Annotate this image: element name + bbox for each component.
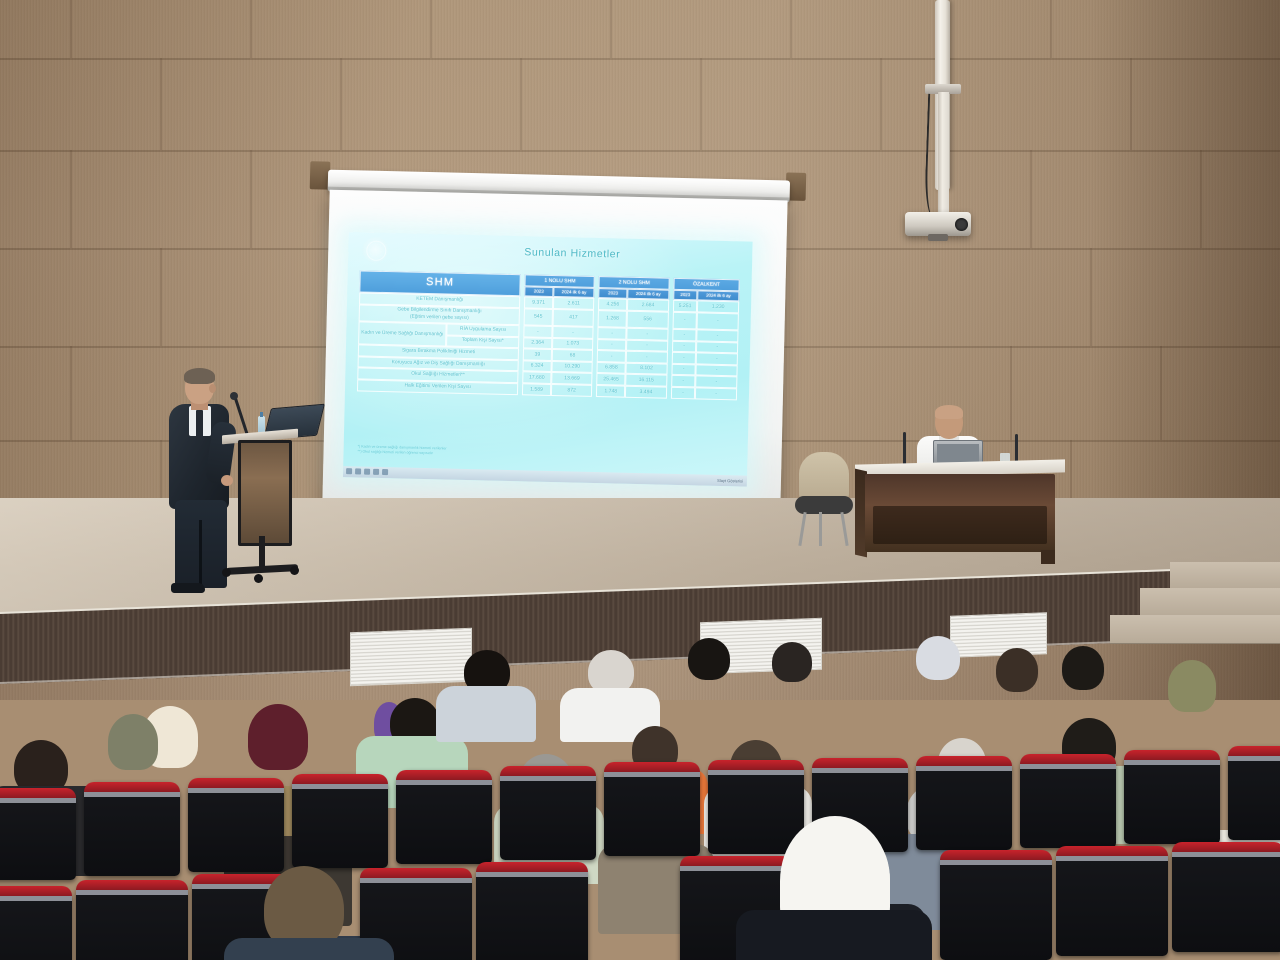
stage-step: [1140, 588, 1280, 615]
auditorium-scene: Sunulan Hizmetler SHM 1 NOLU SHM 2 NOLU …: [0, 0, 1280, 960]
audience-chair[interactable]: [292, 774, 388, 868]
cell-7-1: 872: [551, 384, 593, 397]
windows-start-icon[interactable]: [346, 468, 352, 474]
projector-lens-icon: [955, 218, 968, 231]
audience-chair[interactable]: [604, 762, 700, 856]
audience-chair[interactable]: [1228, 746, 1280, 840]
audience-chair[interactable]: [476, 862, 588, 960]
cell-3-2: -: [597, 339, 626, 351]
cell-1-1: 417: [552, 309, 594, 327]
audience-head: [996, 648, 1038, 692]
cell-7-0: 1.589: [522, 383, 551, 395]
side-chair-back: [799, 452, 849, 500]
lectern-caster: [254, 574, 263, 583]
audience-chair[interactable]: [916, 756, 1012, 850]
panel-laptop-screen: [937, 444, 979, 462]
panel-table-leg: [1041, 550, 1055, 564]
cell-3-4: -: [672, 341, 697, 353]
audience-head-scarf: [1168, 660, 1216, 712]
cell-1-4: -: [672, 312, 697, 330]
audience-chair[interactable]: [940, 850, 1052, 960]
cell-3-5: -: [696, 341, 738, 354]
audience-chair[interactable]: [0, 886, 72, 960]
cell-2-0: -: [523, 326, 552, 338]
cell-6-1: 13.669: [551, 372, 593, 385]
cell-0-4: 5.251: [673, 300, 698, 312]
audience-chair[interactable]: [1172, 842, 1280, 952]
cell-3-0: 2.364: [523, 337, 552, 349]
audience-chair[interactable]: [1056, 846, 1168, 956]
cell-6-3: 16.115: [625, 374, 667, 387]
audience-chair[interactable]: [500, 766, 596, 860]
cell-0-3: 2.684: [627, 299, 669, 312]
projection-screen: Sunulan Hizmetler SHM 1 NOLU SHM 2 NOLU …: [314, 170, 792, 531]
cell-3-3: -: [626, 339, 668, 352]
lectern-caster: [222, 568, 231, 577]
cell-2-1: -: [552, 326, 594, 339]
panel-table-front: [865, 474, 1055, 552]
powerpoint-icon[interactable]: [373, 469, 379, 475]
side-chair-leg: [840, 512, 848, 546]
audience-chair[interactable]: [0, 788, 76, 880]
slide-footnotes: *) Kadın ve üreme sağlığı danışmanlık hi…: [357, 444, 446, 457]
audience-head: [688, 638, 730, 680]
cell-4-4: -: [671, 352, 696, 364]
cell-6-2: 25.465: [597, 373, 626, 385]
cell-2-3: -: [626, 328, 668, 341]
subcol-1-2023: 2023: [524, 286, 553, 297]
audience-chair[interactable]: [708, 760, 804, 854]
cell-4-5: -: [696, 353, 738, 366]
cell-7-5: -: [695, 387, 737, 400]
audience-body-foreground: [224, 938, 394, 960]
cell-7-2: 1.748: [596, 385, 625, 397]
audience-chair[interactable]: [396, 770, 492, 864]
cell-4-0: 39: [523, 349, 552, 361]
stage-step: [1170, 562, 1280, 588]
projector-mount-foot: [928, 234, 948, 241]
lectern-caster: [290, 566, 299, 575]
presenter-shoe: [171, 583, 205, 593]
subcol-2-2023: 2023: [599, 288, 628, 299]
cell-1-3: 556: [627, 311, 669, 329]
panelist-hair: [935, 405, 963, 419]
panel-microphone-left: [903, 432, 906, 466]
browser-icon[interactable]: [364, 469, 370, 475]
cell-6-0: 17.680: [522, 372, 551, 384]
cell-4-3: -: [626, 351, 668, 364]
cell-7-4: -: [671, 387, 696, 399]
mail-icon[interactable]: [382, 469, 388, 475]
audience-chair[interactable]: [188, 778, 284, 872]
cell-1-0: 545: [524, 308, 553, 326]
cell-1-2: 1.268: [598, 310, 627, 328]
audience-body-foreground-dark: [736, 910, 932, 960]
services-table: SHM 1 NOLU SHM 2 NOLU SHM ÖZALKENT 2023 …: [357, 270, 740, 399]
cell-6-5: -: [695, 376, 737, 389]
projected-slide: Sunulan Hizmetler SHM 1 NOLU SHM 2 NOLU …: [343, 232, 753, 486]
cell-5-2: 6.858: [597, 362, 626, 374]
audience-chair[interactable]: [84, 782, 180, 876]
cell-5-3: 8.102: [625, 363, 667, 376]
cell-6-4: -: [671, 375, 696, 387]
audience-chair[interactable]: [76, 880, 188, 960]
audience-chair[interactable]: [1020, 754, 1116, 848]
audience-body: [436, 686, 536, 742]
presenter-leg-separation: [199, 520, 202, 588]
presenter-hair: [184, 368, 215, 384]
cell-4-1: 68: [551, 349, 593, 362]
side-chair-leg: [819, 512, 822, 546]
cell-0-1: 2.611: [553, 297, 595, 310]
lectern: [222, 432, 298, 562]
lectern-front-panel: [238, 440, 292, 546]
cell-3-1: 1.073: [552, 338, 594, 351]
cell-2-5: -: [696, 330, 738, 343]
cell-0-2: 4.256: [598, 298, 627, 310]
audience-head-scarf: [108, 714, 158, 770]
audience-head-scarf: [248, 704, 308, 770]
cell-0-5: 1.230: [697, 301, 739, 314]
row-label-2-group: Kadın ve Üreme Sağlığı Danışmanlığı: [358, 322, 447, 347]
cell-0-0: 9.371: [524, 297, 553, 309]
audience-area: [0, 618, 1280, 960]
cell-5-1: 10.290: [551, 361, 593, 374]
audience-chair[interactable]: [1124, 750, 1220, 844]
audience-head-scarf: [916, 636, 960, 680]
cell-4-2: -: [597, 350, 626, 362]
cell-2-4: -: [672, 329, 697, 341]
audience-head: [1062, 646, 1104, 690]
side-chair[interactable]: [793, 452, 855, 548]
projector-cable: [924, 94, 952, 219]
cell-2-2: -: [598, 327, 627, 339]
audience-head: [772, 642, 812, 682]
microphone-icon: [230, 392, 238, 400]
presenter-ear: [209, 384, 216, 393]
row-label-1-sub: (Eğitim verilen gebe sayısı): [410, 314, 469, 320]
cell-5-0: 6.324: [523, 360, 552, 372]
slide-title: Sunulan Hizmetler: [524, 246, 620, 260]
cell-7-3: 3.494: [625, 386, 667, 399]
presenter-tie: [196, 410, 203, 440]
subcol-3-2023: 2023: [673, 289, 698, 300]
cell-5-4: -: [671, 364, 696, 376]
cell-5-5: -: [696, 364, 738, 377]
taskbar-icons[interactable]: [346, 468, 388, 475]
cell-1-5: -: [697, 312, 739, 330]
folder-icon[interactable]: [355, 468, 361, 474]
taskbar-status: Slayt Gösterisi: [717, 477, 743, 483]
panel-table: [855, 462, 1065, 572]
side-chair-leg: [798, 512, 806, 546]
